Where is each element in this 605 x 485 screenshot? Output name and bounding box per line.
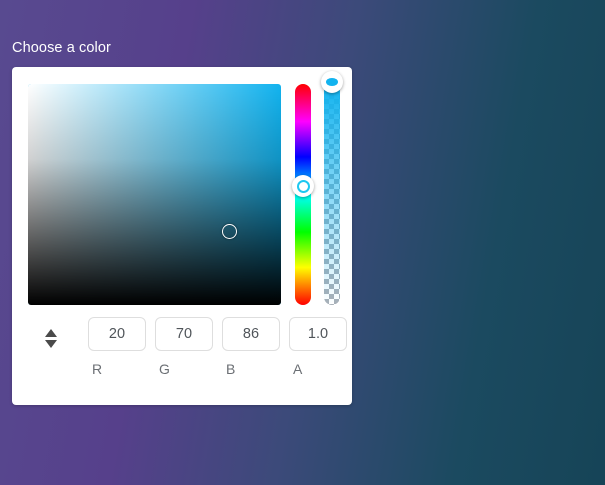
page-title: Choose a color bbox=[12, 40, 111, 56]
color-picker-card: R G B A bbox=[12, 67, 352, 405]
field-group-g: G bbox=[155, 317, 213, 377]
alpha-slider-thumb[interactable] bbox=[321, 71, 343, 93]
alpha-slider[interactable] bbox=[324, 84, 340, 305]
alpha-thumb-inner bbox=[326, 78, 338, 86]
alpha-label: A bbox=[293, 361, 347, 377]
alpha-gradient-layer bbox=[324, 84, 340, 305]
chevron-down-icon bbox=[45, 340, 57, 348]
chevron-up-icon bbox=[45, 329, 57, 337]
hue-slider-thumb[interactable] bbox=[292, 175, 314, 197]
field-group-b: B bbox=[222, 317, 280, 377]
format-toggle-button[interactable] bbox=[43, 325, 59, 351]
field-group-a: A bbox=[289, 317, 347, 377]
red-label: R bbox=[92, 361, 146, 377]
green-label: G bbox=[159, 361, 213, 377]
blue-label: B bbox=[226, 361, 280, 377]
color-value-fields: R G B A bbox=[28, 317, 338, 387]
saturation-value-panel[interactable] bbox=[28, 84, 281, 305]
green-input[interactable] bbox=[155, 317, 213, 351]
sv-black-layer bbox=[28, 84, 281, 305]
sv-cursor-handle[interactable] bbox=[222, 224, 237, 239]
blue-input[interactable] bbox=[222, 317, 280, 351]
red-input[interactable] bbox=[88, 317, 146, 351]
hue-thumb-inner bbox=[297, 180, 310, 193]
field-group-r: R bbox=[88, 317, 146, 377]
alpha-input[interactable] bbox=[289, 317, 347, 351]
